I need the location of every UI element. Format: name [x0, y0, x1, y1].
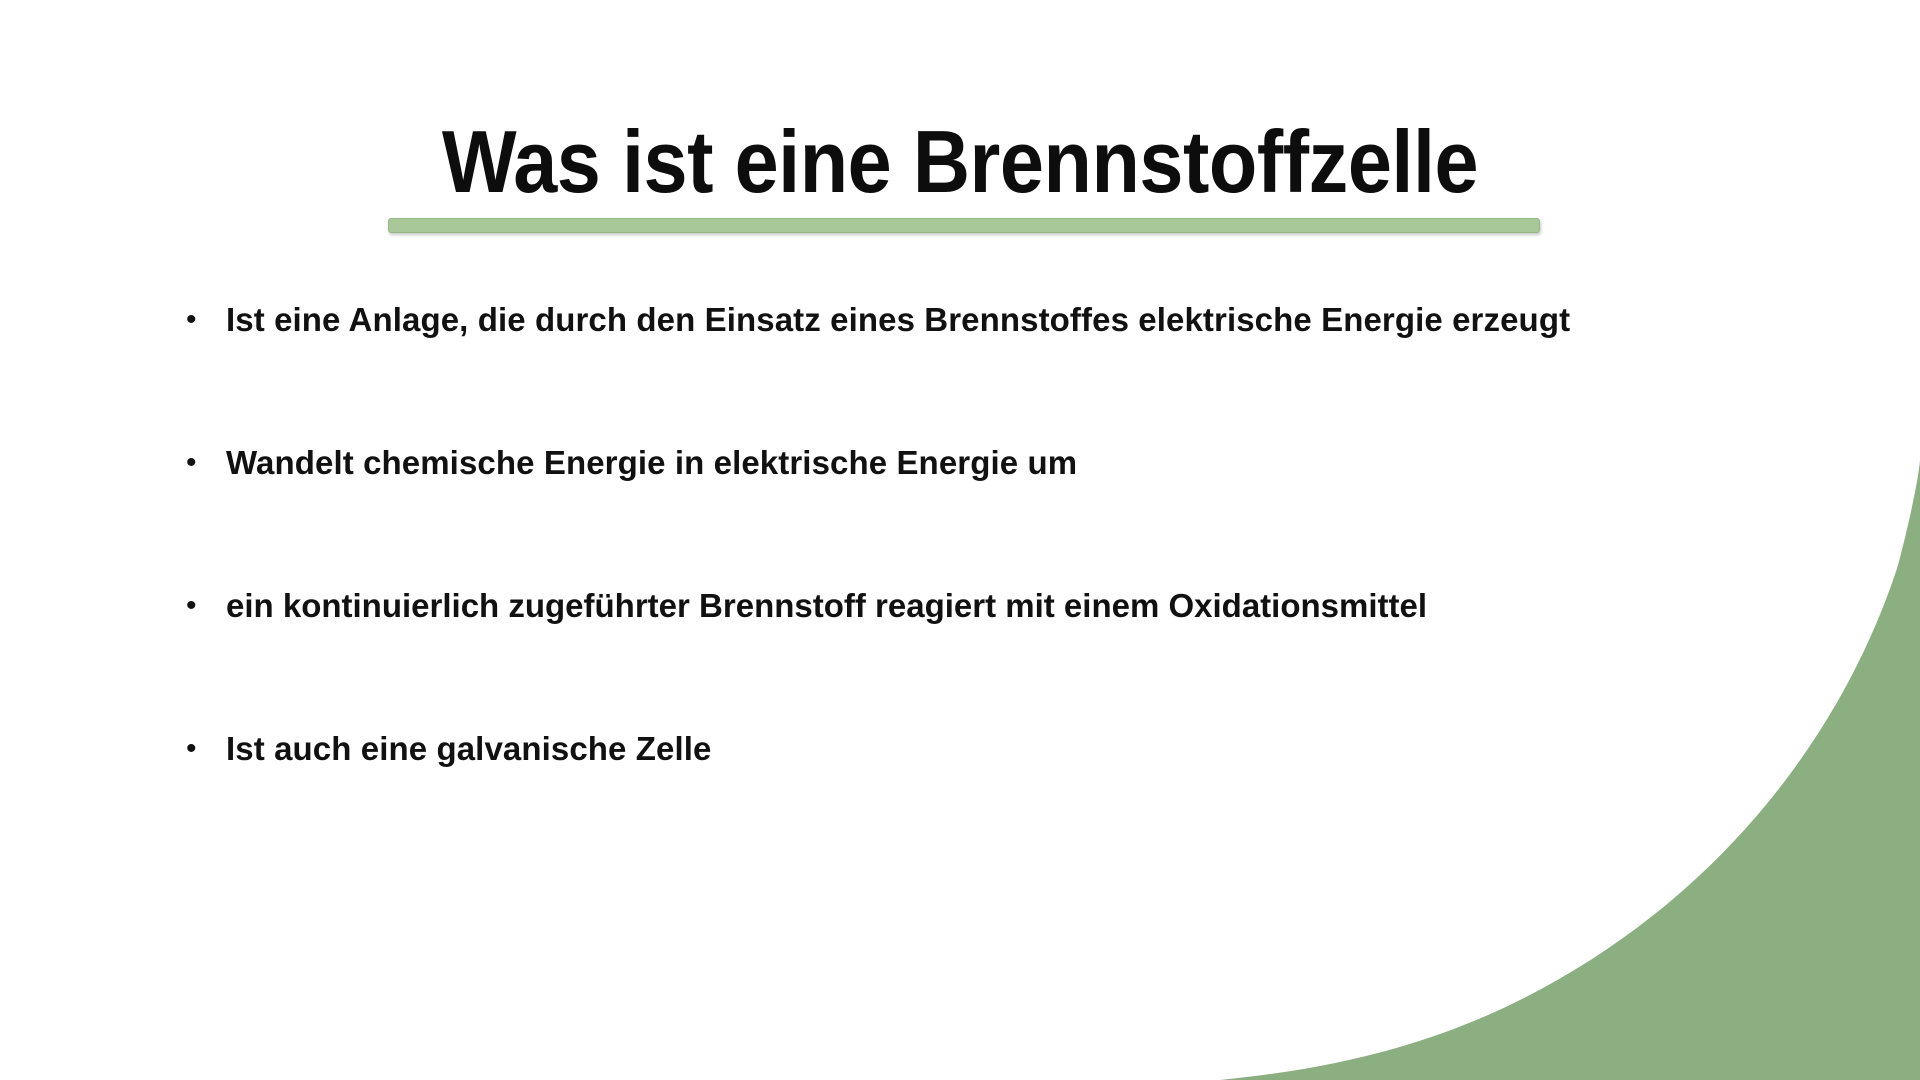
bullet-text: ein kontinuierlich zugeführter Brennstof… — [226, 586, 1806, 626]
bullet-point-icon: • — [186, 300, 226, 340]
bullet-point-icon: • — [186, 729, 226, 769]
list-item: • Wandelt chemische Energie in elektrisc… — [186, 443, 1806, 586]
bullet-list: • Ist eine Anlage, die durch den Einsatz… — [186, 300, 1806, 872]
list-item: • Ist auch eine galvanische Zelle — [186, 729, 1806, 872]
title-accent-bar — [388, 218, 1540, 233]
bullet-text: Wandelt chemische Energie in elektrische… — [226, 443, 1806, 483]
title-block: Was ist eine Brennstoffzelle — [0, 118, 1920, 206]
list-item: • Ist eine Anlage, die durch den Einsatz… — [186, 300, 1806, 443]
list-item: • ein kontinuierlich zugeführter Brennst… — [186, 586, 1806, 729]
page-title: Was ist eine Brennstoffzelle — [96, 118, 1824, 206]
bullet-text: Ist eine Anlage, die durch den Einsatz e… — [226, 300, 1806, 340]
bullet-point-icon: • — [186, 586, 226, 626]
bullet-point-icon: • — [186, 443, 226, 483]
presentation-slide: Was ist eine Brennstoffzelle • Ist eine … — [0, 0, 1920, 1080]
bullet-text: Ist auch eine galvanische Zelle — [226, 729, 1806, 769]
